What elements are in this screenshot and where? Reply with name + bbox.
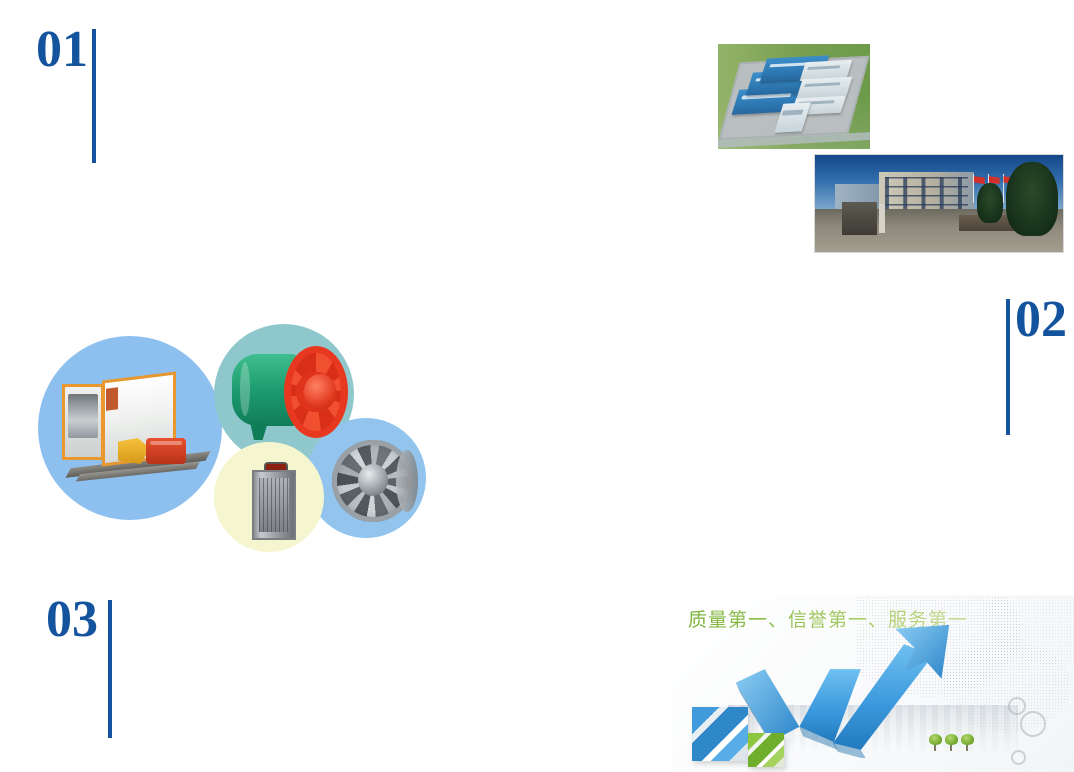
blue-cube-cluster (692, 707, 748, 761)
office-windows (885, 177, 968, 214)
cabinet-centrifugal-fan (62, 372, 214, 482)
factory-aerial-rendering-image (718, 44, 870, 149)
metal-impeller (332, 440, 414, 522)
growth-chart-banner-image: 质量第一、信誉第一、服务第一 (672, 595, 1074, 772)
filter-mesh (259, 478, 289, 532)
axial-flow-fan (232, 346, 348, 442)
banner-tree-3 (961, 734, 974, 751)
fan-control-panel (106, 387, 118, 410)
office-gate-house (842, 202, 877, 235)
office-building-photo-image (815, 155, 1063, 252)
section-divider-03 (108, 600, 112, 738)
product-circle-cluster-image (36, 322, 432, 550)
section-number-01: 01 (36, 26, 88, 74)
impeller-hub (358, 464, 388, 496)
section-number-03: 03 (46, 596, 98, 644)
flag-1 (974, 176, 985, 184)
fan-motor (146, 438, 186, 464)
impeller-rim (396, 450, 418, 512)
section-marker-01: 01 (36, 26, 96, 163)
tree-group (929, 734, 974, 751)
air-filter-box (252, 462, 296, 540)
section-marker-03: 03 (46, 596, 112, 738)
filter-frame (252, 470, 296, 540)
section-number-02: 02 (1015, 296, 1067, 344)
fan-inlet-port (68, 394, 98, 438)
decor-circle-2 (1020, 711, 1046, 737)
axial-fan-foot (250, 422, 268, 440)
decor-circle-3 (1011, 750, 1026, 765)
axial-fan-hub (304, 374, 336, 410)
green-cube-cluster (748, 733, 784, 767)
office-light-post (879, 204, 885, 233)
banner-tree-1 (929, 734, 942, 751)
aerial-building-5 (797, 76, 852, 97)
banner-tree-2 (945, 734, 958, 751)
section-divider-02 (1006, 299, 1010, 435)
office-tree-mid (977, 183, 1003, 223)
section-divider-01 (92, 29, 96, 163)
office-tree-right (1006, 162, 1058, 236)
section-marker-02: 02 (1006, 296, 1067, 435)
